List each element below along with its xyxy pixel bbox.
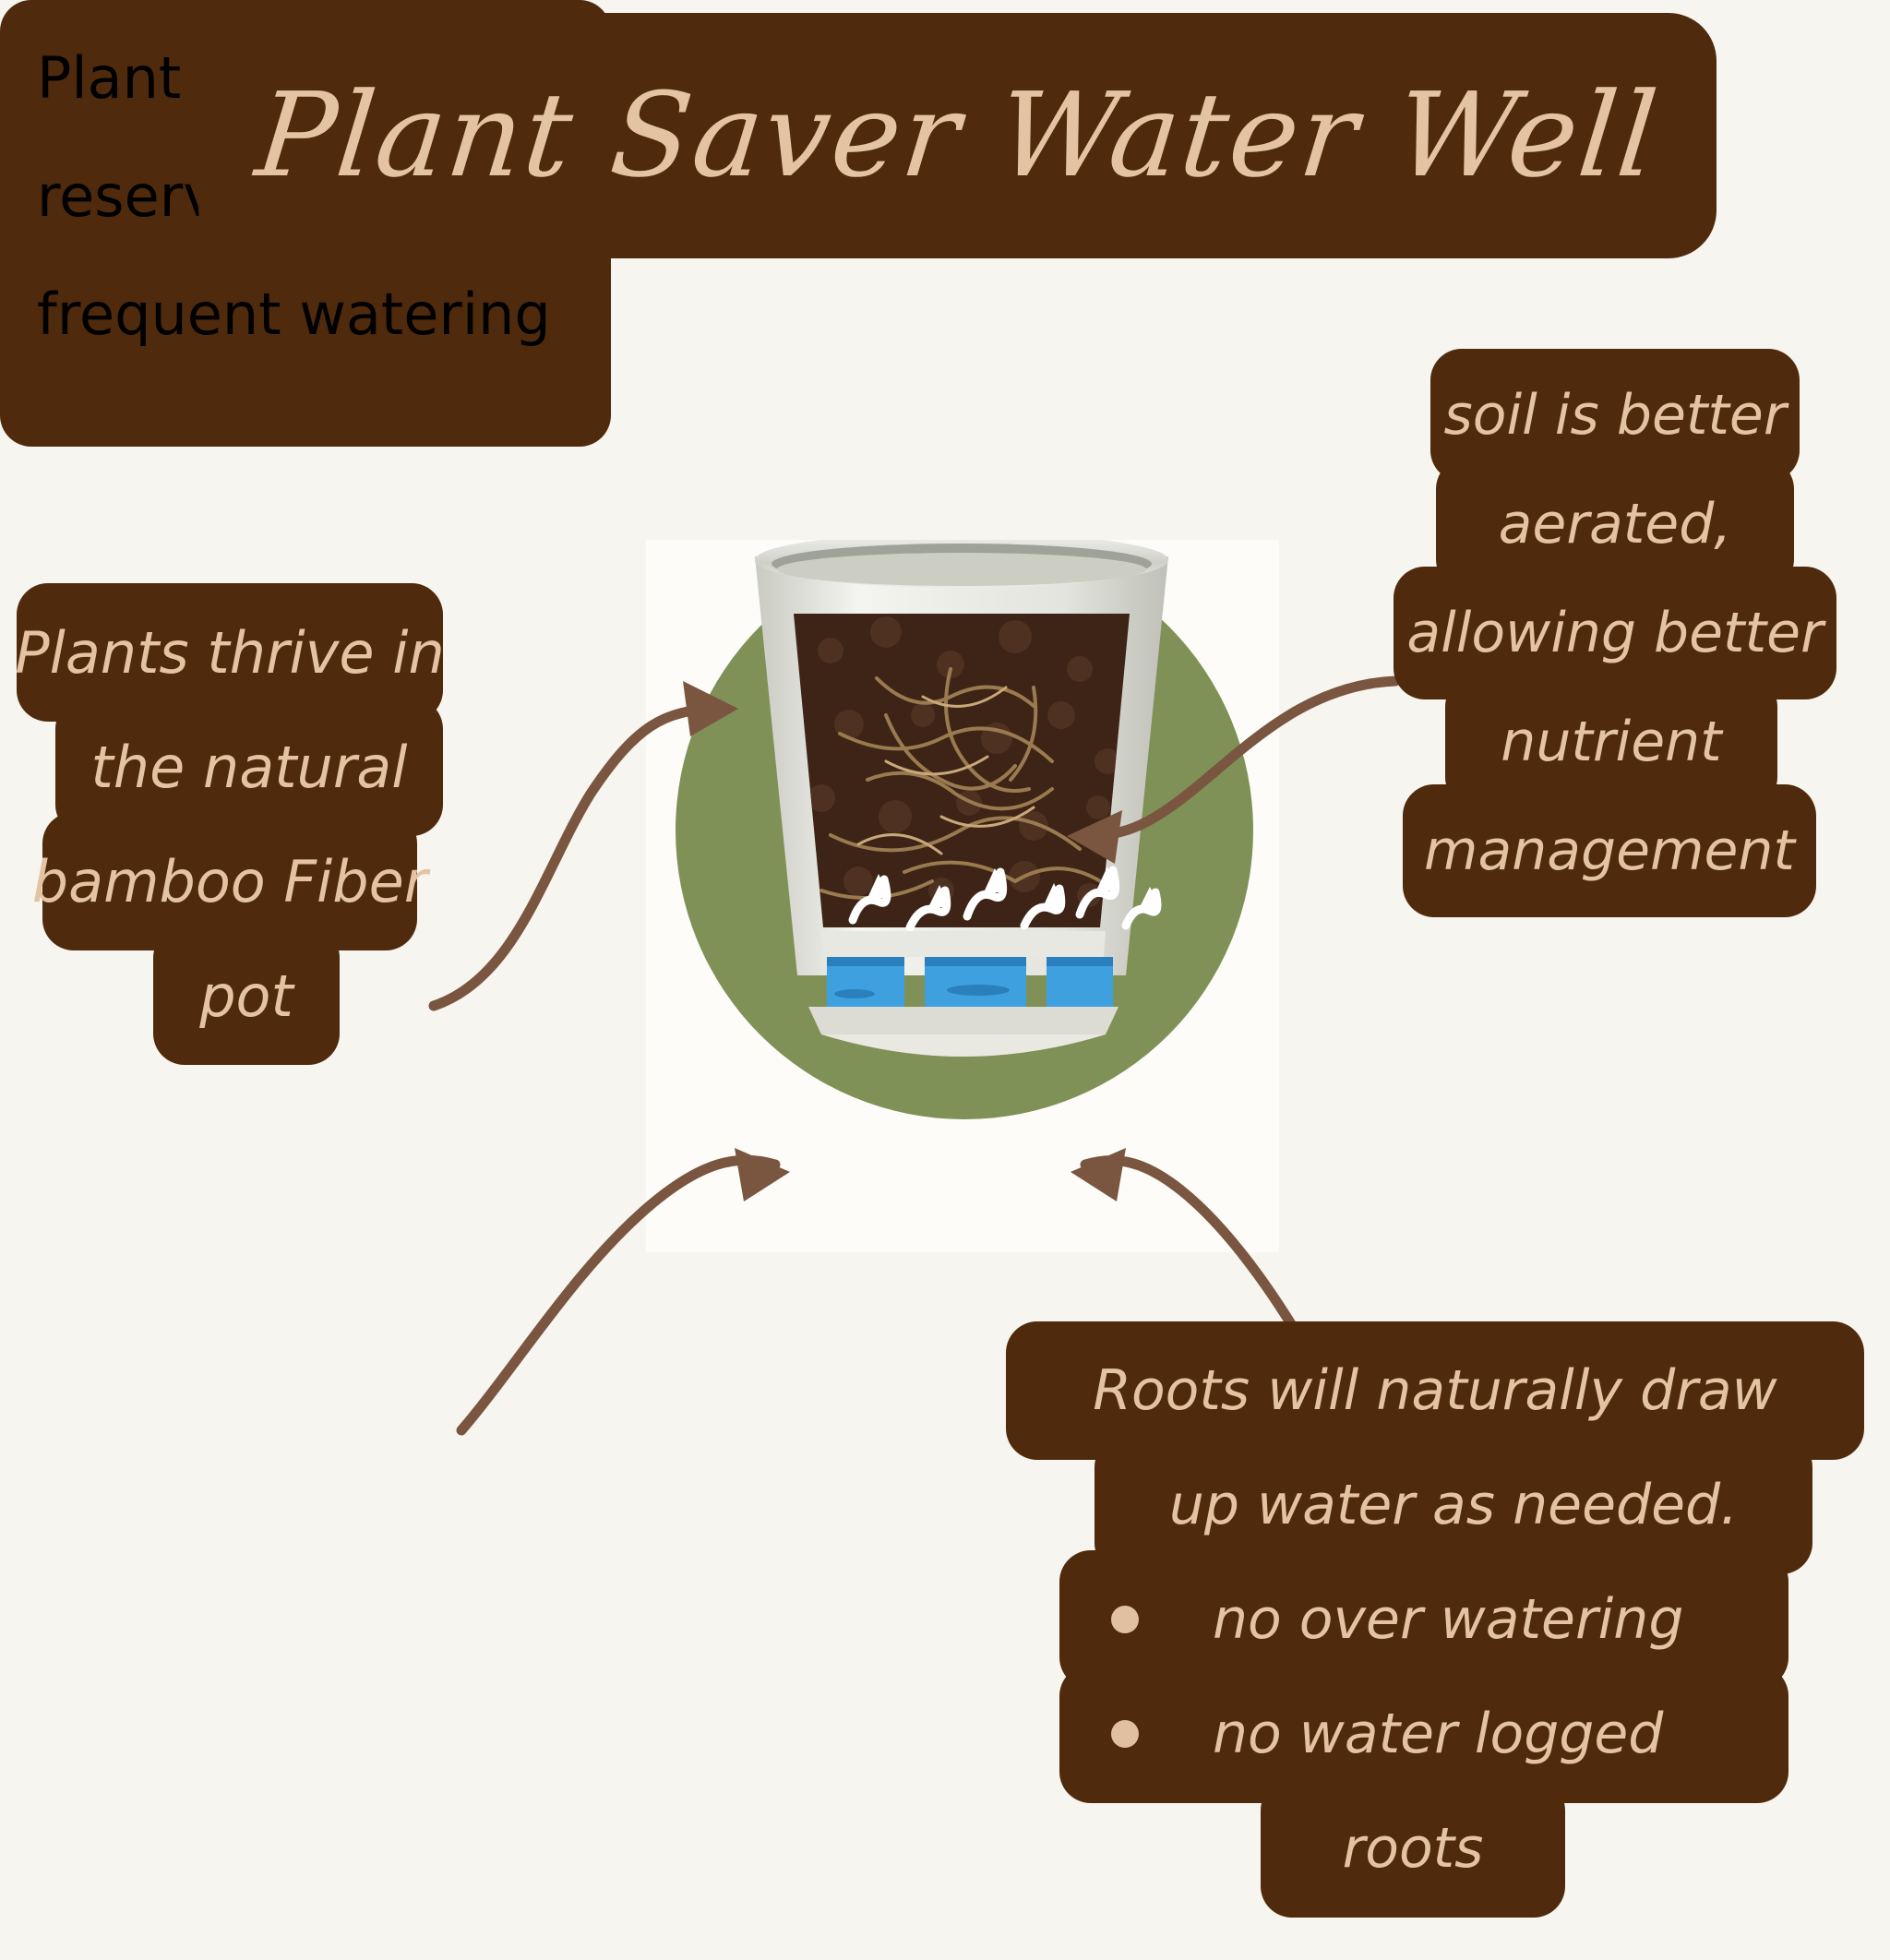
callout-text: frequent watering — [37, 281, 551, 348]
callout-text: no over watering — [1213, 1587, 1683, 1652]
callout-text: no water logged — [1213, 1702, 1663, 1766]
infographic-canvas: Plant Saver Water Well — [0, 0, 1890, 1960]
callout-soil-aeration[interactable]: soil is better aerated, allowing better … — [1394, 349, 1836, 917]
callout-text: allowing better — [1406, 601, 1823, 665]
callout-line: roots — [1261, 1779, 1565, 1918]
reservoir-shelf — [821, 931, 1106, 957]
water-reservoir — [827, 957, 1113, 1007]
callout-text: roots — [1343, 1816, 1484, 1881]
product-illustration — [646, 540, 1279, 1252]
callout-roots-draw-water[interactable]: Roots will naturally draw up water as ne… — [1006, 1321, 1864, 1918]
title-banner: Plant Saver Water Well — [198, 13, 1717, 258]
callout-text: pot — [199, 962, 293, 1030]
callout-line: frequent watering — [0, 281, 611, 399]
callout-text: nutrient — [1501, 710, 1721, 774]
pot-base — [808, 1007, 1118, 1034]
callout-text: soil is better — [1444, 383, 1787, 448]
callout-text: the natural — [90, 734, 407, 801]
callout-text: bamboo Fiber — [32, 848, 428, 915]
callout-line: pot — [153, 926, 340, 1065]
callout-text: aerated, — [1499, 492, 1732, 556]
callout-plants-thrive[interactable]: Plants thrive in the natural bamboo Fibe… — [17, 583, 443, 1065]
callout-text: Plants thrive in — [15, 619, 445, 687]
planter-cutaway-svg — [646, 540, 1279, 1252]
pot-rim-lip — [777, 553, 1146, 586]
bullet-dot-icon — [1111, 1720, 1139, 1748]
soil-region — [784, 604, 1144, 937]
page-title: Plant Saver Water Well — [251, 78, 1663, 194]
callout-line: management — [1403, 784, 1816, 917]
callout-text: Roots will naturally draw — [1093, 1358, 1776, 1423]
callout-text: up water as needed. — [1169, 1473, 1738, 1537]
callout-text: management — [1424, 819, 1795, 883]
bullet-dot-icon — [1111, 1606, 1139, 1633]
